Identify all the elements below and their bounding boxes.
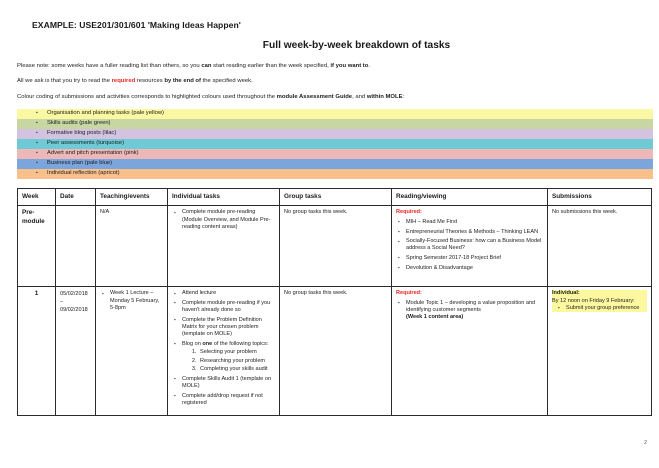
cell-group-tasks: No group tasks this week. [280, 206, 392, 287]
submission-items-list: Submit your group preference [552, 305, 647, 312]
teaching-events-list: Week 1 Lecture – Monday 5 February, 5-8p… [100, 290, 163, 312]
note1-part3: . [368, 63, 370, 69]
column-header-individual-tasks: Individual tasks [168, 189, 280, 206]
legend-label: Skills audits (pale green) [47, 120, 110, 126]
column-header-reading-viewing: Reading/viewing [392, 189, 548, 206]
legend-item-business-plan: Business plan (pale blue) [17, 159, 653, 169]
week-label: Pre-module [22, 209, 51, 226]
blog-intro-bold: one [202, 341, 212, 347]
submission-deadline: By 12 noon on Friday 9 February: [552, 298, 647, 305]
cell-date: 05/02/2018 – 09/02/2018 [56, 287, 96, 416]
reading-list: Module Topic 1 – developing a value prop… [396, 300, 543, 322]
note1-part2: start reading earlier than the week spec… [212, 63, 331, 69]
note2-part2: resources [135, 78, 164, 84]
reading-content-area: (Week 1 content area) [406, 314, 463, 320]
legend-label: Business plan (pale blue) [47, 160, 112, 166]
cell-submissions: Individual: By 12 noon on Friday 9 Febru… [548, 287, 652, 416]
document-title: EXAMPLE: USE201/301/601 'Making Ideas Ha… [32, 20, 649, 30]
legend-label: Organisation and planning tasks (pale ye… [47, 110, 164, 116]
list-item: Complete add/drop request if not registe… [182, 393, 275, 407]
reading-main-text: Module Topic 1 – developing a value prop… [406, 300, 535, 313]
blog-topics-list: Selecting your problem Researching your … [182, 349, 275, 373]
note3-bold1: module Assessment Guide [277, 94, 352, 100]
list-item: Researching your problem [198, 358, 275, 365]
table-row: 1 05/02/2018 – 09/02/2018 Week 1 Lecture… [18, 287, 652, 416]
list-item: Attend lecture [182, 290, 275, 297]
note3-bold2: within MOLE [367, 94, 403, 100]
cell-reading-viewing: Required: MIH – Read Me First Entreprene… [392, 206, 548, 287]
individual-task-list: Attend lecture Complete module pre-readi… [172, 290, 275, 407]
legend-item-blog-posts: Formative blog posts (lilac) [17, 129, 653, 139]
submission-audience: Individual: [552, 290, 647, 297]
cell-submissions: No submissions this week. [548, 206, 652, 287]
note1-bold2: if you want to [330, 63, 368, 69]
schedule-table-wrapper: Week Date Teaching/events Individual tas… [16, 188, 649, 416]
column-header-group-tasks: Group tasks [280, 189, 392, 206]
legend-item-advert-pitch: Advert and pitch presentation (pink) [17, 149, 653, 159]
list-item: Completing your skills audit [198, 366, 275, 373]
required-label: Required: [396, 290, 543, 297]
table-header-row: Week Date Teaching/events Individual tas… [18, 189, 652, 206]
list-item: Week 1 Lecture – Monday 5 February, 5-8p… [110, 290, 163, 312]
cell-reading-viewing: Required: Module Topic 1 – developing a … [392, 287, 548, 416]
column-header-teaching-events: Teaching/events [96, 189, 168, 206]
note-required-resources: All we ask is that you try to read the r… [17, 78, 649, 85]
cell-week: Pre-module [18, 206, 56, 287]
note2-part3: the specified week. [201, 78, 253, 84]
legend-label: Individual reflection (apricot) [47, 170, 120, 176]
group-tasks-value: No group tasks this week. [284, 290, 387, 297]
list-item: Spring Semester 2017-18 Project Brief [406, 255, 543, 262]
cell-teaching-events: N/A [96, 206, 168, 287]
legend-item-peer-assessments: Peer assessments (turquoise) [17, 139, 653, 149]
list-item: Complete module pre-reading (Module Over… [182, 209, 275, 231]
cell-week: 1 [18, 287, 56, 416]
date-value: 05/02/2018 – 09/02/2018 [60, 290, 91, 314]
page-heading: Full week-by-week breakdown of tasks [64, 40, 649, 51]
list-item: Module Topic 1 – developing a value prop… [406, 300, 543, 322]
blog-intro-pre: Blog on [182, 341, 202, 347]
table-row: Pre-module N/A Complete module pre-readi… [18, 206, 652, 287]
list-item: MIH – Read Me First [406, 219, 543, 226]
document-page: EXAMPLE: USE201/301/601 'Making Ideas Ha… [0, 0, 659, 468]
list-item: Entrepreneurial Theories & Methods – Thi… [406, 229, 543, 236]
cell-teaching-events: Week 1 Lecture – Monday 5 February, 5-8p… [96, 287, 168, 416]
teaching-value: N/A [100, 209, 163, 216]
legend-label: Formative blog posts (lilac) [47, 130, 116, 136]
list-item: Socially-Focused Business: how can a Bus… [406, 238, 543, 252]
legend-item-skills-audits: Skills audits (pale green) [17, 119, 653, 129]
list-item: Selecting your problem [198, 349, 275, 356]
submissions-value: No submissions this week. [552, 209, 647, 216]
reading-list: MIH – Read Me First Entrepreneurial Theo… [396, 219, 543, 272]
note3-part3: : [403, 94, 405, 100]
blog-intro-post: of the following topics: [212, 341, 268, 347]
legend-label: Advert and pitch presentation (pink) [47, 150, 139, 156]
column-header-date: Date [56, 189, 96, 206]
group-tasks-value: No group tasks this week. [284, 209, 387, 216]
week-label: 1 [22, 290, 51, 298]
note-colour-coding: Colour coding of submissions and activit… [17, 94, 649, 101]
list-item: Complete module pre-reading if you haven… [182, 300, 275, 314]
list-item-blog: Blog on one of the following topics: Sel… [182, 341, 275, 374]
note2-part1: All we ask is that you try to read the [17, 78, 112, 84]
schedule-table: Week Date Teaching/events Individual tas… [17, 188, 652, 416]
note3-part2: , and [352, 94, 367, 100]
required-label: Required: [396, 209, 543, 216]
individual-task-list: Complete module pre-reading (Module Over… [172, 209, 275, 231]
note3-part1: Colour coding of submissions and activit… [17, 94, 277, 100]
list-item: Devolution & Disadvantage [406, 265, 543, 272]
submission-highlight-block: Individual: By 12 noon on Friday 9 Febru… [552, 290, 647, 312]
note2-required-word: required [112, 78, 136, 84]
legend-item-organisation: Organisation and planning tasks (pale ye… [17, 109, 653, 119]
colour-legend: Organisation and planning tasks (pale ye… [17, 109, 653, 179]
list-item: Complete Skills Audit 1 (template on MOL… [182, 376, 275, 390]
note-reading-list: Please note: some weeks have a fuller re… [17, 63, 649, 70]
page-number: 2 [644, 440, 647, 446]
cell-individual-tasks: Complete module pre-reading (Module Over… [168, 206, 280, 287]
cell-date [56, 206, 96, 287]
note1-part1: Please note: some weeks have a fuller re… [17, 63, 201, 69]
note1-bold1: can [201, 63, 211, 69]
list-item: Submit your group preference [566, 305, 647, 312]
list-item: Complete the Problem Definition Matrix f… [182, 317, 275, 339]
legend-item-individual-reflection: Individual reflection (apricot) [17, 169, 653, 179]
cell-individual-tasks: Attend lecture Complete module pre-readi… [168, 287, 280, 416]
cell-group-tasks: No group tasks this week. [280, 287, 392, 416]
note2-bold: by the end of [164, 78, 201, 84]
column-header-week: Week [18, 189, 56, 206]
legend-label: Peer assessments (turquoise) [47, 140, 124, 146]
column-header-submissions: Submissions [548, 189, 652, 206]
